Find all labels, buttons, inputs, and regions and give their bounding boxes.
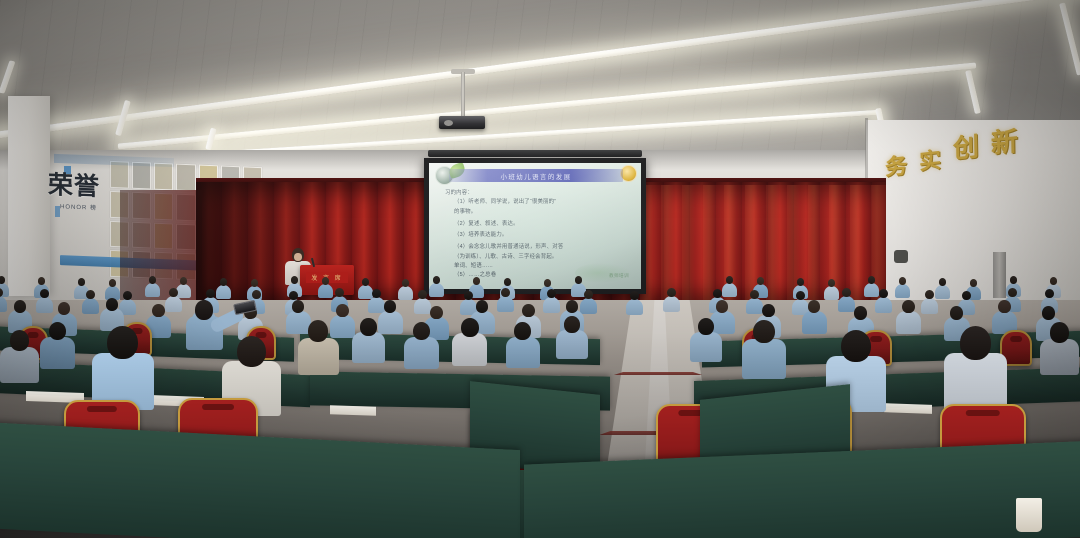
audience-torso: [82, 298, 99, 314]
audience-head: [413, 322, 430, 340]
audience-head: [195, 300, 213, 320]
slide-text-line: （为训练）、儿歌、古诗、三字经会背起。: [445, 254, 631, 260]
audience-head: [757, 277, 765, 285]
audience-member: [82, 290, 99, 313]
attendee-right-mid: [742, 320, 786, 378]
audience-member: [497, 288, 514, 311]
audience-head: [998, 300, 1011, 313]
audience-member: [145, 276, 160, 296]
audience-torso: [404, 337, 439, 369]
audience-member: [556, 316, 588, 358]
audience-head: [473, 277, 481, 285]
projector-lens-icon: [444, 120, 453, 126]
slide-text-line: （4）会念念儿歌并用普通话说，形声、对答: [445, 244, 631, 250]
audience-head: [461, 318, 479, 337]
audience-torso: [690, 332, 722, 362]
audience-torso: [543, 297, 560, 313]
audience-head: [1010, 276, 1018, 284]
audience-head: [797, 278, 805, 286]
slide-text-line: （1）听老师、同学说，说出了“很美丽的”: [445, 199, 631, 205]
audience-head: [828, 279, 836, 287]
audience-member: [543, 289, 560, 312]
honor-wall-title: 荣誉: [48, 173, 100, 200]
audience-member: [0, 330, 39, 382]
audience-head: [950, 306, 963, 320]
audience-torso: [352, 332, 385, 363]
audience-member: [690, 318, 722, 361]
slide-text-line: （2）复述、叙述、表达。: [445, 221, 631, 227]
audience-member: [40, 322, 75, 368]
audience-member: [875, 289, 892, 312]
audience-head: [152, 304, 165, 317]
paper-sheet: [884, 403, 932, 414]
audience-torso: [626, 299, 643, 315]
audience-head: [251, 279, 259, 287]
audience-head: [360, 318, 377, 336]
audience-member: [452, 318, 487, 365]
audience-head: [237, 336, 266, 367]
audience-head: [109, 279, 117, 287]
audience-torso: [895, 284, 910, 298]
gold-character: 实: [919, 149, 941, 173]
audience-member: [802, 300, 827, 333]
audience-head: [514, 322, 531, 340]
audience-head: [220, 278, 228, 286]
slide-text-line: 的事物。: [445, 209, 631, 215]
foreground-attendee-blue-shirt: [92, 326, 154, 408]
audience-head: [726, 276, 734, 284]
audience-torso: [802, 311, 827, 334]
audience-torso: [36, 297, 53, 313]
audience-head: [362, 278, 370, 286]
audience-head: [1050, 322, 1070, 343]
audience-torso: [663, 296, 680, 312]
projector-drop-pole: [461, 72, 465, 118]
audience-head: [566, 300, 578, 313]
conference-hall-scene: 荣誉 HONOR 榜 务实创新 发 言 席 小班幼儿语言的发展 习的内容：（1）…: [0, 0, 1080, 538]
audience-member: [404, 322, 439, 368]
audience-member: [352, 318, 385, 362]
audience-head: [291, 276, 299, 284]
audience-member: [105, 279, 120, 299]
audience-head: [0, 288, 3, 297]
audience-head: [78, 278, 86, 286]
audience-head: [902, 300, 915, 313]
audience-head: [1042, 306, 1055, 320]
audience-head: [868, 276, 876, 284]
audience-head: [698, 318, 714, 335]
audience-head: [38, 277, 46, 285]
audience-torso: [452, 333, 487, 366]
audience-torso: [1040, 339, 1079, 375]
audience-head: [762, 304, 775, 317]
audience-torso: [398, 286, 413, 300]
gold-character: 务: [885, 155, 907, 179]
audience-member: [506, 322, 540, 367]
audience-head: [322, 277, 330, 285]
slide-title-bar: 小班幼儿语言的发展: [449, 169, 623, 182]
slide-text-line: 习的内容：: [445, 190, 631, 196]
audience-torso: [506, 337, 540, 368]
audience-head: [970, 279, 978, 287]
aisle-stripe-1: [612, 372, 704, 375]
audience-member: [895, 277, 910, 297]
audience-member: [0, 288, 7, 311]
audience-head: [960, 326, 992, 360]
audience-head: [899, 277, 907, 285]
audience-member: [921, 290, 938, 313]
audience-head: [1050, 277, 1058, 285]
honor-wall-subtitle: HONOR 榜: [60, 201, 97, 211]
audience-head: [10, 330, 30, 351]
audience-head: [106, 298, 118, 311]
audience-head: [939, 278, 947, 286]
audience-head: [402, 279, 410, 287]
audience-torso: [824, 286, 839, 300]
audience-head: [14, 300, 26, 313]
paper-sheet: [330, 405, 376, 416]
audience-member: [1040, 322, 1079, 374]
audience-head: [841, 330, 871, 362]
audience-head: [564, 316, 580, 333]
audience-member: [896, 300, 921, 334]
wall-camera-icon: [894, 250, 908, 263]
slide-watermark-text: 教师培训: [609, 273, 629, 279]
audience-head: [504, 278, 512, 286]
audience-head: [49, 322, 66, 340]
audience-head: [544, 279, 552, 287]
projection-screen-frame: 小班幼儿语言的发展 习的内容：（1）听老师、同学说，说出了“很美丽的”的事物。（…: [424, 158, 646, 294]
audience-torso: [896, 311, 921, 335]
projection-screen: 小班幼儿语言的发展 习的内容：（1）听老师、同学说，说出了“很美丽的”的事物。（…: [429, 163, 641, 289]
slide-text-line: （3）培养表达能力。: [445, 232, 631, 238]
left-pillar: [8, 96, 50, 296]
audience-head: [433, 276, 441, 284]
audience-torso: [742, 339, 786, 380]
audience-torso: [921, 298, 938, 314]
audience-head: [336, 304, 349, 317]
audience-member: [663, 288, 680, 311]
audience-head: [575, 276, 583, 284]
audience-head: [149, 276, 157, 284]
audience-head: [308, 320, 328, 342]
audience-head: [180, 277, 188, 285]
audience-torso: [145, 283, 160, 297]
audience-member: [824, 279, 839, 299]
screen-roller: [428, 150, 642, 157]
audience-torso: [556, 330, 588, 359]
foreground-attendee-right-grey: [944, 326, 1007, 410]
audience-head: [854, 306, 867, 320]
audience-torso: [875, 297, 892, 313]
audience-torso: [497, 296, 514, 312]
foreground-attendee-cream: [298, 320, 339, 374]
audience-member: [626, 291, 643, 314]
paper-cup: [1016, 498, 1042, 532]
audience-head: [753, 320, 775, 343]
audience-torso: [298, 338, 339, 376]
audience-torso: [0, 347, 39, 383]
presenter-face: [294, 253, 302, 261]
audience-torso: [0, 296, 7, 312]
audience-member: [36, 289, 53, 312]
attendee-taking-photo: [186, 300, 223, 349]
audience-head: [522, 304, 535, 317]
certificate-frame: [176, 164, 195, 192]
audience-head: [430, 306, 443, 319]
gold-character: 创: [953, 133, 979, 162]
audience-member: [398, 279, 413, 299]
slide-title: 小班幼儿语言的发展: [500, 171, 571, 181]
gold-character: 新: [991, 128, 1018, 158]
audience-head: [107, 326, 138, 359]
audience-torso: [40, 337, 75, 369]
